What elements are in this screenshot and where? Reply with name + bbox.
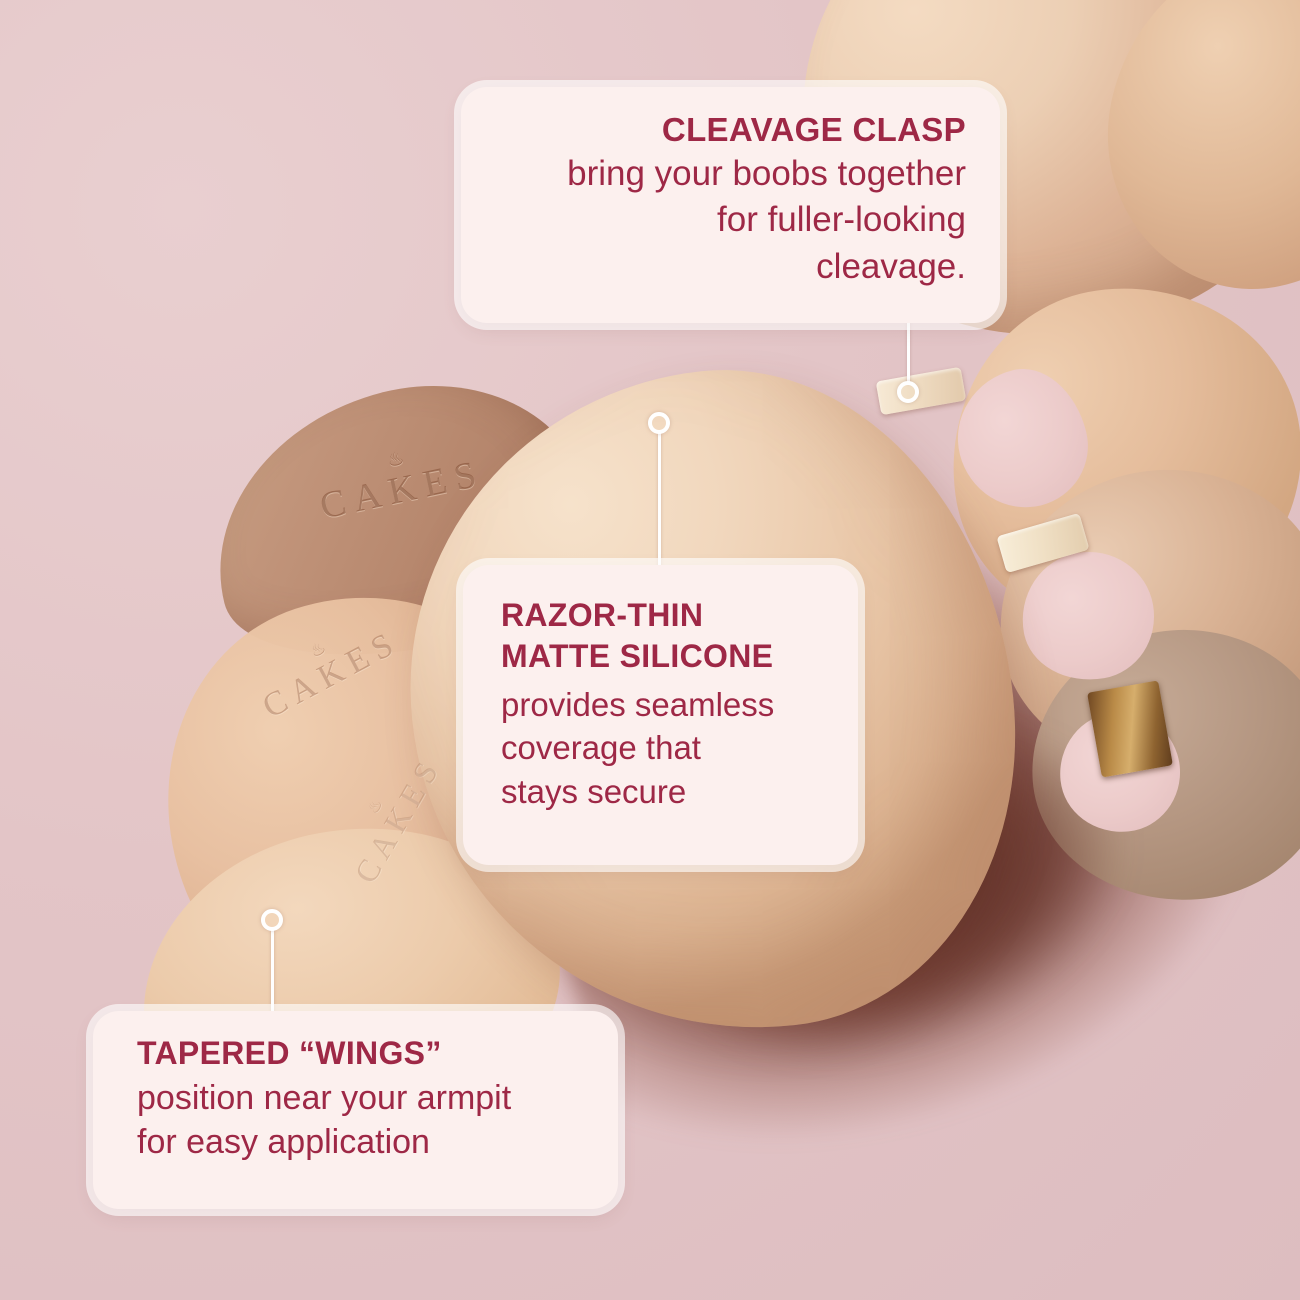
callout-body-line: for easy application: [137, 1120, 588, 1164]
leader-line-razor-thin: [658, 433, 661, 567]
callout-body: provides seamless coverage that stays se…: [501, 683, 828, 814]
callout-heading: CLEAVAGE CLASP: [491, 111, 966, 149]
product-feature-infographic: ♨ CAKES ♨ CAKES ♨ CAKES CLEAVAGE CLASP b…: [0, 0, 1300, 1300]
callout-heading: RAZOR-THIN MATTE SILICONE: [501, 595, 828, 677]
callout-body: bring your boobs together for fuller-loo…: [491, 151, 966, 290]
callout-card-razor-thin-matte-silicone: RAZOR-THIN MATTE SILICONE provides seaml…: [463, 565, 858, 865]
anchor-dot-cleavage-clasp: [897, 381, 919, 403]
callout-card-cleavage-clasp: CLEAVAGE CLASP bring your boobs together…: [461, 87, 1000, 323]
callout-body-line: stays secure: [501, 770, 828, 814]
callout-body: position near your armpit for easy appli…: [137, 1076, 588, 1164]
callout-body-line: coverage that: [501, 726, 828, 770]
anchor-dot-razor-thin: [648, 412, 670, 434]
cleavage-clasp-bronze: [1087, 680, 1173, 777]
callout-heading: TAPERED “WINGS”: [137, 1035, 588, 1072]
leader-line-tapered-wings: [271, 930, 274, 1014]
callout-heading-line: MATTE SILICONE: [501, 636, 828, 677]
callout-body-line: for fuller-looking: [491, 197, 966, 243]
callout-body-line: bring your boobs together: [491, 151, 966, 197]
callout-heading-line: RAZOR-THIN: [501, 595, 828, 636]
callout-body-line: provides seamless: [501, 683, 828, 727]
leader-line-cleavage-clasp: [907, 322, 910, 384]
callout-card-tapered-wings: TAPERED “WINGS” position near your armpi…: [93, 1011, 618, 1209]
anchor-dot-tapered-wings: [261, 909, 283, 931]
callout-body-line: cleavage.: [491, 244, 966, 290]
callout-body-line: position near your armpit: [137, 1076, 588, 1120]
